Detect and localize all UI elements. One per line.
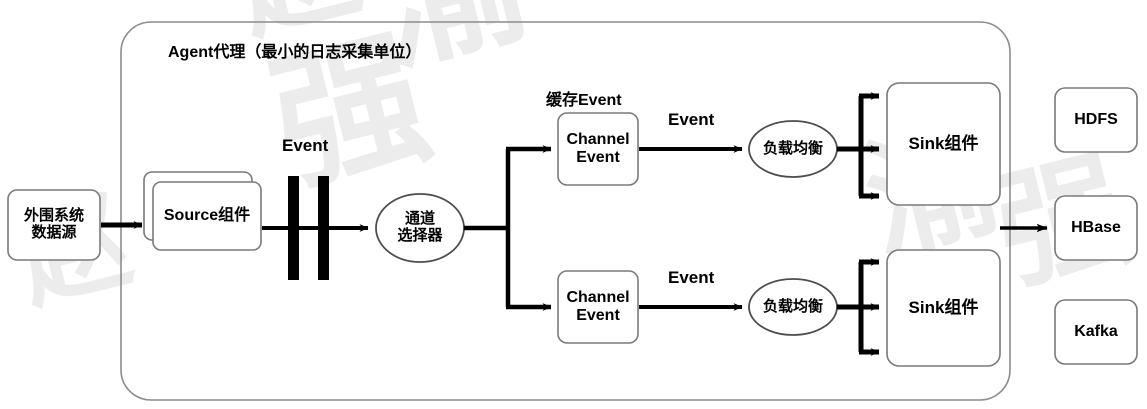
hbase-box: [1055, 196, 1137, 260]
channel-selector-ellipse: [376, 194, 464, 262]
external-source-box: [8, 190, 100, 260]
diagram-canvas: 赵 渝 强 赵 渝 强 赵: [0, 0, 1147, 409]
event-bar-2: [318, 176, 329, 280]
edge-label-source-to-selector: Event: [282, 136, 328, 156]
svg-text:赵: 赵: [593, 0, 743, 8]
edge-label-cache-event-top: 缓存Event: [546, 86, 622, 110]
edge-label-channel-to-lb-bottom: Event: [668, 268, 714, 288]
kafka-box: [1055, 300, 1137, 364]
load-balancer-top-ellipse: [749, 121, 837, 177]
load-balancer-bottom-ellipse: [749, 279, 837, 335]
event-bar-1: [288, 176, 299, 280]
agent-title: Agent代理（最小的日志采集单位）: [168, 38, 421, 62]
sink-bottom-box: [887, 250, 1000, 366]
channel-top-box: [558, 113, 638, 185]
sink-top-box: [887, 83, 1000, 205]
edge-label-channel-to-lb-top: Event: [668, 110, 714, 130]
hdfs-box: [1055, 88, 1137, 152]
source-component-box-front: [153, 182, 261, 250]
channel-bottom-box: [558, 271, 638, 343]
